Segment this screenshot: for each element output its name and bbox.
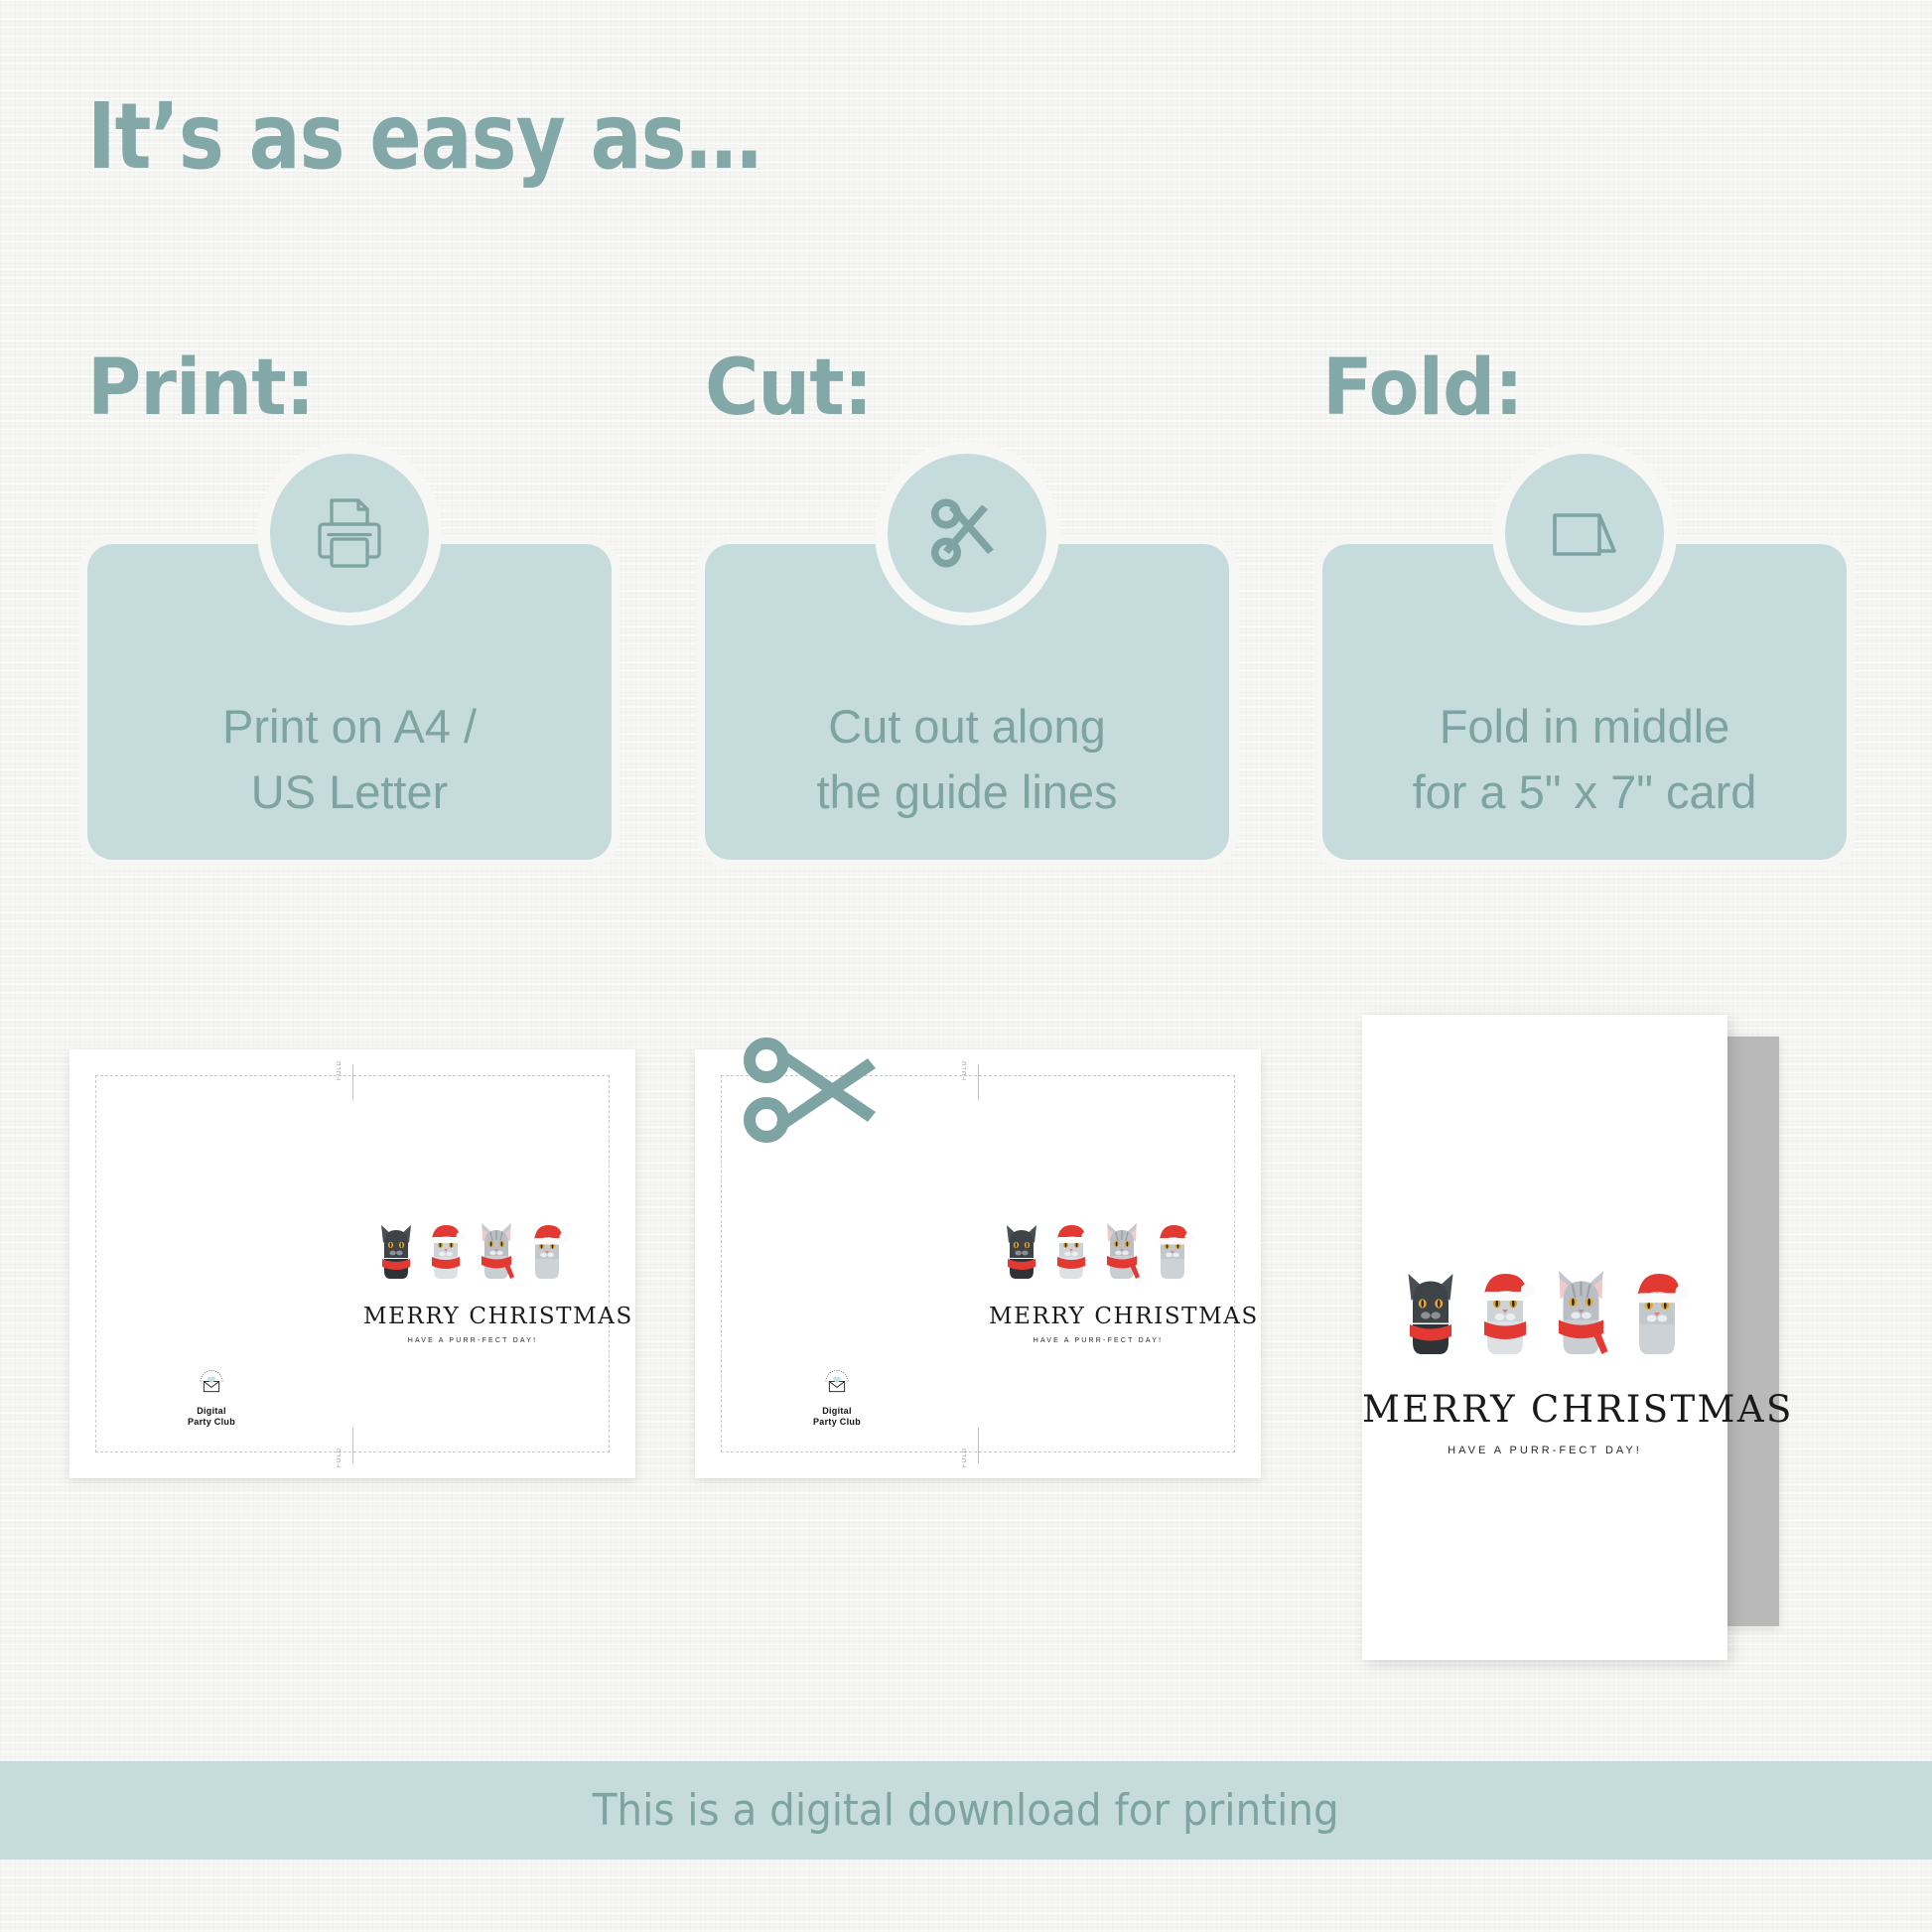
envelope-heart-logo <box>195 1386 228 1403</box>
step-box-fold: Fold in middle for a 5" x 7" card <box>1322 544 1847 860</box>
card-artwork-3: MERRY CHRISTMAS HAVE A PURR-FECT DAY! <box>1362 1261 1727 1456</box>
step-text-print-line1: Print on A4 / <box>87 694 612 760</box>
step-text-print: Print on A4 / US Letter <box>87 694 612 860</box>
black-cat-with-red-scarf <box>374 1213 418 1298</box>
printer-icon <box>302 485 397 581</box>
card-artwork-2: MERRY CHRISTMAS HAVE A PURR-FECT DAY! <box>989 1216 1207 1344</box>
grey-tabby-red-scarf <box>1099 1213 1145 1298</box>
folded-card-icon <box>1537 485 1632 581</box>
grey-tabby-red-scarf <box>474 1213 519 1298</box>
fold-tick-top-1 <box>352 1064 353 1100</box>
grey-tabby-santa-hat <box>1621 1256 1693 1380</box>
grey-cat-santa-hat-red-scarf <box>1047 1213 1095 1298</box>
fold-tick-bottom-2 <box>978 1428 979 1463</box>
cat-row-2 <box>989 1216 1207 1298</box>
step-text-cut: Cut out along the guide lines <box>705 694 1229 860</box>
card-title-2: MERRY CHRISTMAS <box>989 1304 1207 1329</box>
envelope-heart-logo <box>820 1386 854 1403</box>
cat-row-3 <box>1362 1261 1727 1380</box>
printed-sheet-mockup-1: FOLD FOLD <box>69 1049 635 1478</box>
grey-cat-santa-hat-red-scarf <box>1469 1256 1541 1380</box>
cat-row-1 <box>363 1216 582 1298</box>
fold-label-bottom-1: FOLD <box>337 1448 343 1467</box>
brand-logo-name-line1-b: Digital <box>794 1406 880 1416</box>
fold-label-top-2: FOLD <box>962 1060 968 1080</box>
step-box-cut: Cut out along the guide lines <box>705 544 1229 860</box>
step-title-print: Print: <box>87 349 586 427</box>
scissors-overlay-icon <box>733 1031 911 1150</box>
step-title-fold: Fold: <box>1322 349 1821 427</box>
grey-tabby-santa-hat <box>523 1213 571 1298</box>
step-text-cut-line2: the guide lines <box>705 759 1229 826</box>
card-title-1: MERRY CHRISTMAS <box>363 1304 582 1329</box>
grey-cat-santa-hat-red-scarf <box>422 1213 470 1298</box>
printer-icon-badge <box>257 441 442 625</box>
grey-tabby-red-scarf <box>1547 1256 1615 1380</box>
step-text-cut-line1: Cut out along <box>705 694 1229 760</box>
page-title: It’s as easy as… <box>87 91 761 183</box>
step-title-cut: Cut: <box>705 349 1203 427</box>
black-cat-with-red-scarf <box>1000 1213 1043 1298</box>
black-cat-with-red-scarf <box>1398 1256 1463 1380</box>
step-text-fold-line1: Fold in middle <box>1322 694 1847 760</box>
folded-card-front-panel: MERRY CHRISTMAS HAVE A PURR-FECT DAY! <box>1362 1015 1727 1660</box>
brand-logo-name-line2-a: Party Club <box>169 1417 254 1427</box>
card-title-3: MERRY CHRISTMAS <box>1362 1388 1727 1431</box>
card-subtitle-3: HAVE A PURR-FECT DAY! <box>1362 1445 1727 1456</box>
folded-card-mockup: MERRY CHRISTMAS HAVE A PURR-FECT DAY! <box>1362 1015 1779 1660</box>
step-column-cut: Cut: Cut out along the guide lines <box>705 349 1229 860</box>
grey-tabby-santa-hat <box>1149 1213 1196 1298</box>
brand-logo-name-line2-b: Party Club <box>794 1417 880 1427</box>
brand-logo-name-2: Digital Party Club <box>794 1406 880 1427</box>
brand-logo-2: Digital Party Club <box>794 1369 880 1427</box>
step-text-fold-line2: for a 5" x 7" card <box>1322 759 1847 826</box>
fold-label-bottom-2: FOLD <box>962 1448 968 1467</box>
fold-tick-bottom-1 <box>352 1428 353 1463</box>
step-text-print-line2: US Letter <box>87 759 612 826</box>
footer-bar: This is a digital download for printing <box>0 1761 1932 1860</box>
step-box-print: Print on A4 / US Letter <box>87 544 612 860</box>
step-text-fold: Fold in middle for a 5" x 7" card <box>1322 694 1847 860</box>
scissors-icon-badge <box>875 441 1059 625</box>
card-subtitle-1: HAVE A PURR-FECT DAY! <box>363 1337 582 1344</box>
scissors-icon <box>919 485 1015 581</box>
fold-label-top-1: FOLD <box>337 1060 343 1080</box>
step-column-print: Print: Print on A4 / US Letter <box>87 349 612 860</box>
brand-logo-name-1: Digital Party Club <box>169 1406 254 1427</box>
brand-logo-name-line1-a: Digital <box>169 1406 254 1416</box>
brand-logo-1: Digital Party Club <box>169 1369 254 1427</box>
step-column-fold: Fold: Fold in middle for a 5" x 7" card <box>1322 349 1847 860</box>
card-subtitle-2: HAVE A PURR-FECT DAY! <box>989 1337 1207 1344</box>
folded-card-icon-badge <box>1492 441 1677 625</box>
card-artwork-1: MERRY CHRISTMAS HAVE A PURR-FECT DAY! <box>363 1216 582 1344</box>
fold-tick-top-2 <box>978 1064 979 1100</box>
footer-text: This is a digital download for printing <box>593 1785 1339 1836</box>
